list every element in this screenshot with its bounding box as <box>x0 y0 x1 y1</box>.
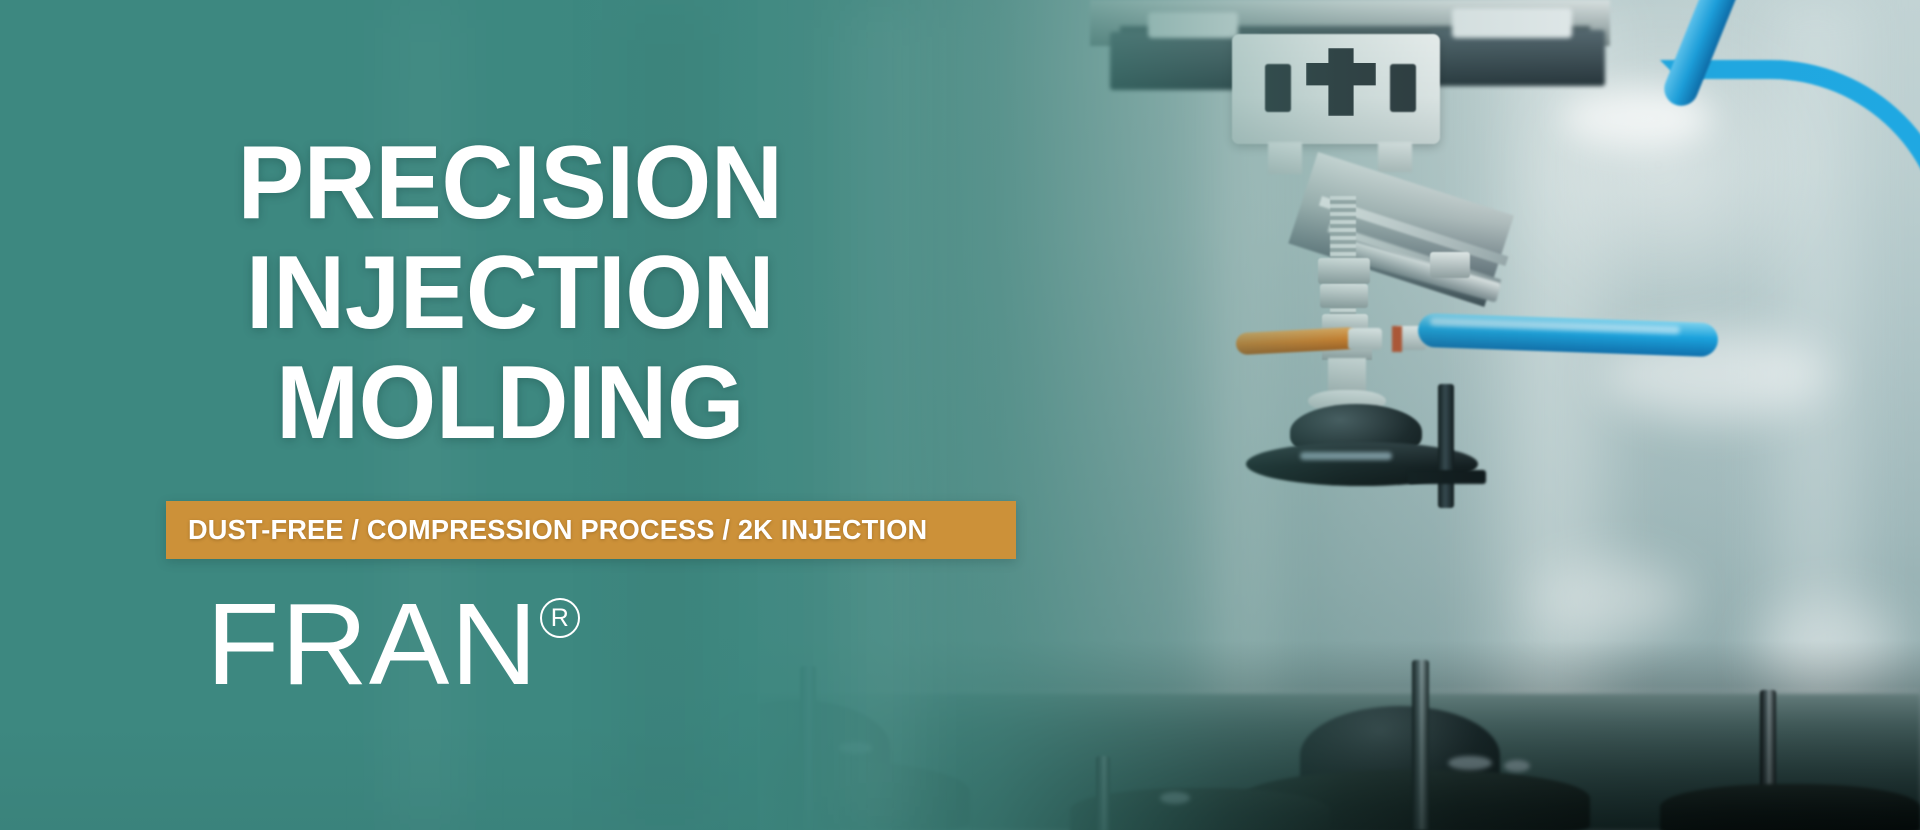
headline-line-1: PRECISION <box>174 128 846 238</box>
fran-logo: FRAN R <box>206 596 580 692</box>
fran-wordmark: FRAN <box>206 596 539 692</box>
precision-injection-molding-banner: PRECISION INJECTION MOLDING DUST-FREE / … <box>0 0 1920 830</box>
registered-trademark-icon: R <box>540 598 580 638</box>
tagline-bar: DUST-FREE / COMPRESSION PROCESS / 2K INJ… <box>166 501 1016 559</box>
banner-content: PRECISION INJECTION MOLDING DUST-FREE / … <box>0 0 1020 830</box>
headline-line-3: MOLDING <box>174 348 846 458</box>
tagline-text: DUST-FREE / COMPRESSION PROCESS / 2K INJ… <box>188 514 927 546</box>
headline-line-2: INJECTION <box>174 238 846 348</box>
headline: PRECISION INJECTION MOLDING <box>174 128 846 458</box>
